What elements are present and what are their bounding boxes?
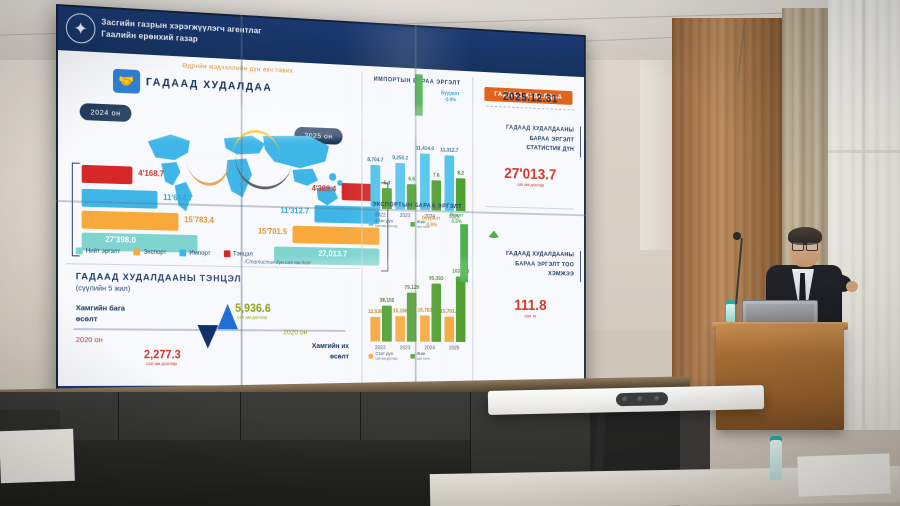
presenter-hand xyxy=(846,281,858,292)
foreground-white-panel xyxy=(0,429,75,484)
video-wall-bezel xyxy=(56,4,586,396)
video-wall-display[interactable]: ✦ Засгийн газрын хэрэгжүүлэгч агентлаг Г… xyxy=(56,4,586,396)
glasses-icon xyxy=(792,242,818,249)
camera-module xyxy=(616,392,668,406)
wooden-podium xyxy=(716,326,844,430)
camera-lens-center xyxy=(637,396,644,403)
camera-lens-right xyxy=(654,395,661,402)
table-water-bottle xyxy=(770,440,782,480)
microphone-icon xyxy=(733,232,741,240)
conference-room-scene: ✦ Засгийн газрын хэрэгжүүлэгч агентлаг Г… xyxy=(0,0,900,506)
camera-lens-left xyxy=(622,396,629,403)
table-papers xyxy=(797,453,890,496)
